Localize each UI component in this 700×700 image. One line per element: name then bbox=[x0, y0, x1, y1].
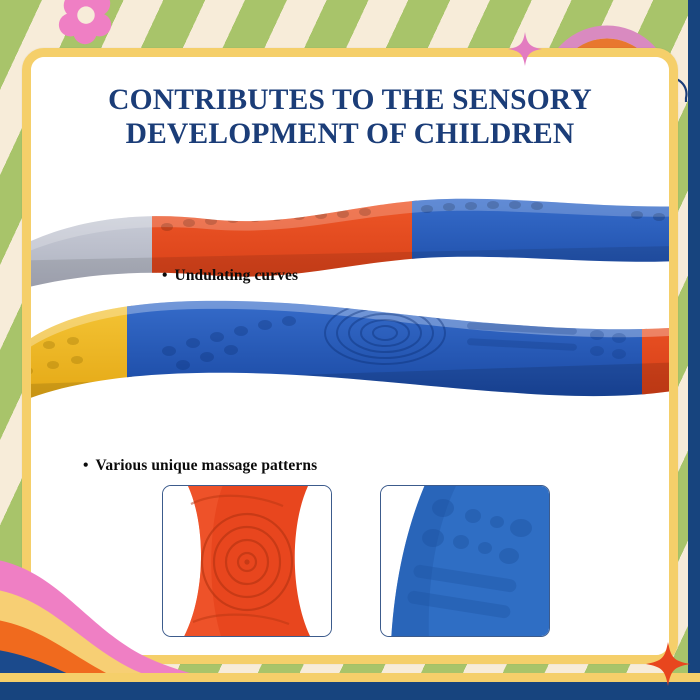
flower-icon bbox=[55, 0, 117, 50]
caption-undulating-curves: •Undulating curves bbox=[162, 267, 298, 285]
bottom-yellow-band bbox=[0, 673, 700, 682]
bullet-icon: • bbox=[83, 457, 89, 475]
caption-massage-patterns: •Various unique massage patterns bbox=[83, 457, 317, 475]
lower-beam bbox=[31, 285, 669, 415]
thumbnail-blue-bumps[interactable] bbox=[380, 485, 550, 637]
product-hero-image bbox=[31, 175, 669, 415]
headline-line-1: CONTRIBUTES TO THE SENSORY bbox=[108, 84, 592, 116]
bottom-navy-band bbox=[0, 682, 700, 700]
poster-canvas: CONTRIBUTES TO THE SENSORY DEVELOPMENT O… bbox=[0, 0, 700, 700]
page-title: CONTRIBUTES TO THE SENSORY DEVELOPMENT O… bbox=[31, 83, 669, 151]
blue-bump-surface bbox=[381, 486, 549, 636]
headline-line-2: DEVELOPMENT OF CHILDREN bbox=[31, 117, 669, 151]
sparkle-icon bbox=[646, 642, 690, 686]
caption-text: Various unique massage patterns bbox=[96, 457, 318, 474]
upper-beam bbox=[31, 185, 669, 315]
caption-text: Undulating curves bbox=[175, 267, 299, 284]
bullet-icon: • bbox=[162, 267, 168, 285]
sparkle-icon bbox=[508, 32, 542, 66]
